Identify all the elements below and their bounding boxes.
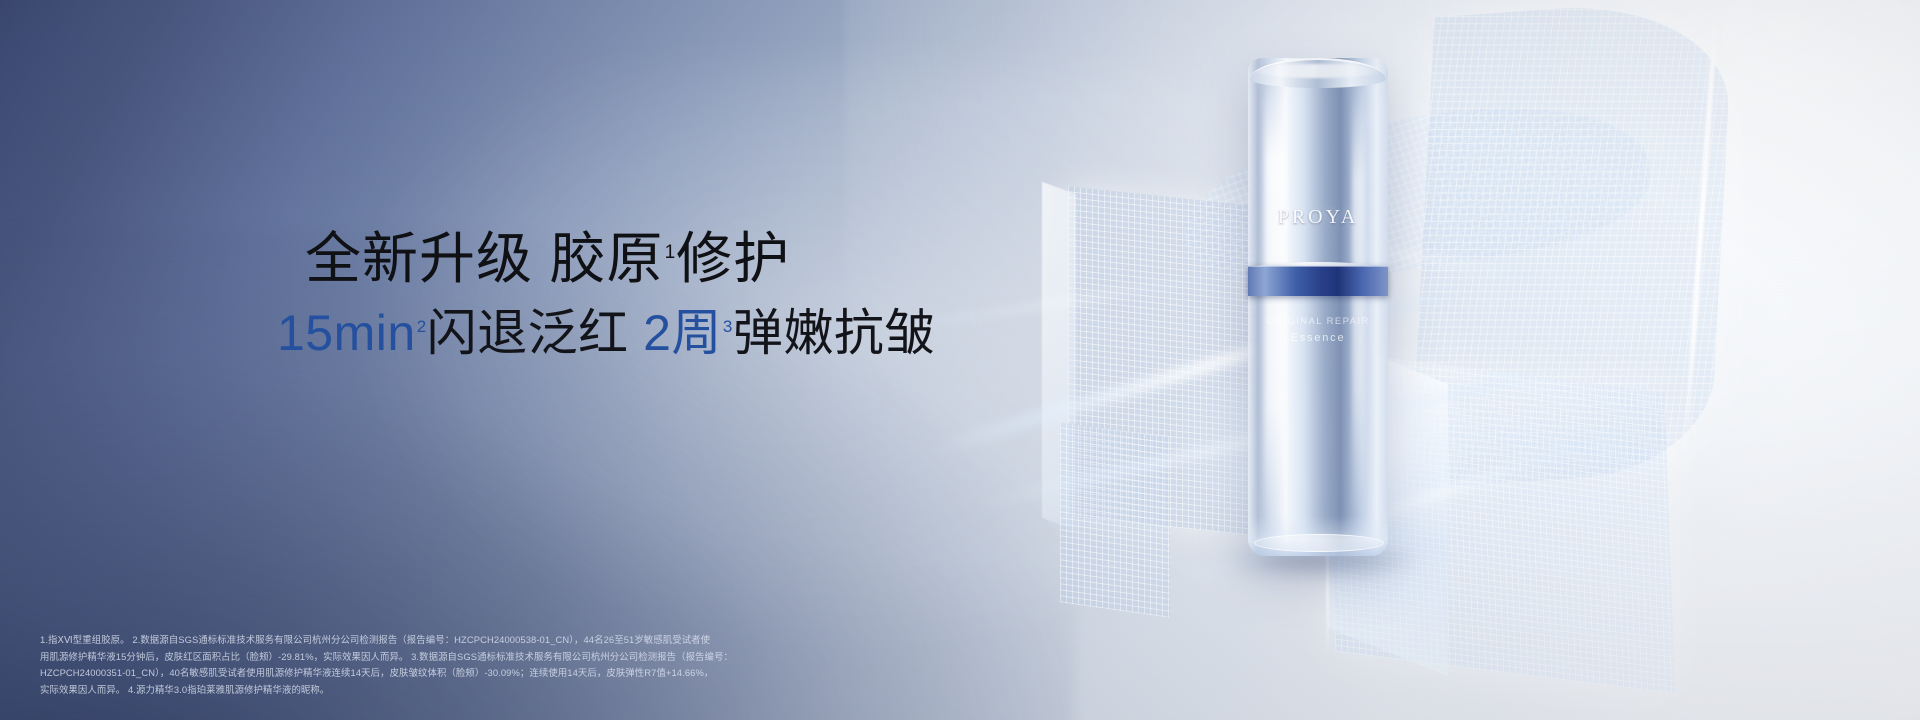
headline-part-2: 修护	[676, 227, 790, 290]
footnote-line: 1.指ⅩⅥ型重组胶原。 2.数据源自SGS通标标准技术服务有限公司杭州分公司检测…	[40, 632, 800, 649]
subheadline: 15min2闪退泛红 2周3弹嫩抗皱	[277, 305, 1005, 361]
headline-part-1: 全新升级 胶原	[305, 227, 664, 290]
product-art-scene: PROYA ORIGINAL REPAIR Essence	[1030, 0, 1920, 720]
mesh-block-bottom-left	[1060, 422, 1170, 617]
subheadline-metric-2: 2周	[643, 305, 722, 361]
subheadline-benefit-2: 弹嫩抗皱	[733, 305, 935, 361]
subheadline-metric-1-marker: 2	[417, 317, 427, 336]
bottle-base-rim	[1254, 534, 1384, 552]
footnotes: 1.指ⅩⅥ型重组胶原。 2.数据源自SGS通标标准技术服务有限公司杭州分公司检测…	[40, 632, 800, 699]
bottle-blue-band	[1248, 266, 1388, 296]
bottle-line-name: ORIGINAL REPAIR	[1248, 316, 1388, 327]
bottle-type-name: Essence	[1248, 332, 1388, 344]
headline-footnote-marker: 1	[665, 242, 677, 263]
footnote-line: 实际效果因人而异。 4.源力精华3.0指珀莱雅肌源修护精华液的昵称。	[40, 682, 800, 699]
headline: 全新升级 胶原1修护	[305, 228, 1005, 291]
footnote-line: 用肌源修护精华液15分钟后，皮肤红区面积占比（脸颊）-29.81%，实际效果因人…	[40, 649, 800, 666]
subheadline-metric-1: 15min	[277, 305, 416, 361]
promo-banner: PROYA ORIGINAL REPAIR Essence 全新升级 胶原1修护…	[0, 0, 1920, 720]
bottle-specular-highlight-secondary	[1352, 86, 1365, 516]
subheadline-spacer	[629, 305, 643, 361]
bottle-brand-name: PROYA	[1248, 206, 1388, 229]
product-bottle: PROYA ORIGINAL REPAIR Essence	[1248, 58, 1388, 556]
subheadline-metric-2-marker: 3	[723, 317, 733, 336]
footnote-line: HZCPCH24000351-01_CN），40名敏感肌受试者使用肌源修护精华液…	[40, 665, 800, 682]
copy-block: 全新升级 胶原1修护 15min2闪退泛红 2周3弹嫩抗皱	[305, 228, 1005, 361]
bottle-specular-highlight	[1264, 74, 1286, 534]
subheadline-benefit-1: 闪退泛红	[427, 305, 629, 361]
